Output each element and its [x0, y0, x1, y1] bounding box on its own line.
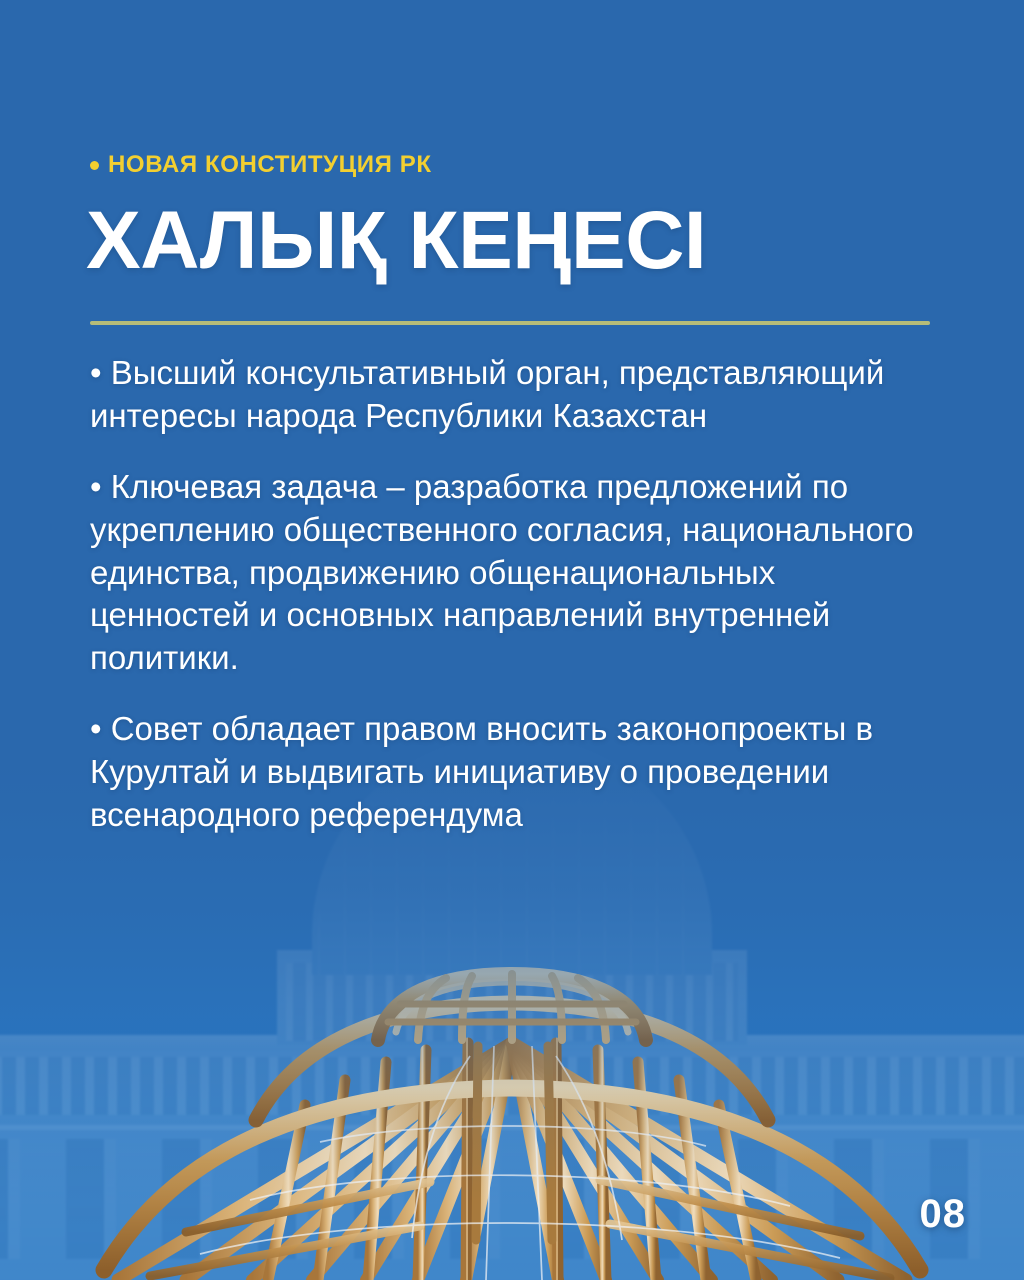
page-title: ХАЛЫҚ КЕҢЕСІ	[86, 200, 706, 282]
bullet-dot-icon	[90, 161, 99, 170]
page-number: 08	[920, 1192, 967, 1237]
eyebrow-text: НОВАЯ КОНСТИТУЦИЯ РК	[108, 151, 432, 179]
title-divider	[90, 321, 930, 325]
eyebrow-label: НОВАЯ КОНСТИТУЦИЯ РК	[90, 151, 432, 179]
list-item: • Ключевая задача – разработка предложен…	[90, 466, 938, 680]
list-item: • Высший консультативный орган, представ…	[90, 352, 938, 438]
bullet-list: • Высший консультативный орган, представ…	[90, 352, 938, 837]
list-item: • Совет обладает правом вносить законопр…	[90, 708, 938, 837]
slide-root: НОВАЯ КОНСТИТУЦИЯ РК ХАЛЫҚ КЕҢЕСІ • Высш…	[0, 0, 1024, 1280]
slide-content: НОВАЯ КОНСТИТУЦИЯ РК ХАЛЫҚ КЕҢЕСІ • Высш…	[0, 0, 1024, 1280]
